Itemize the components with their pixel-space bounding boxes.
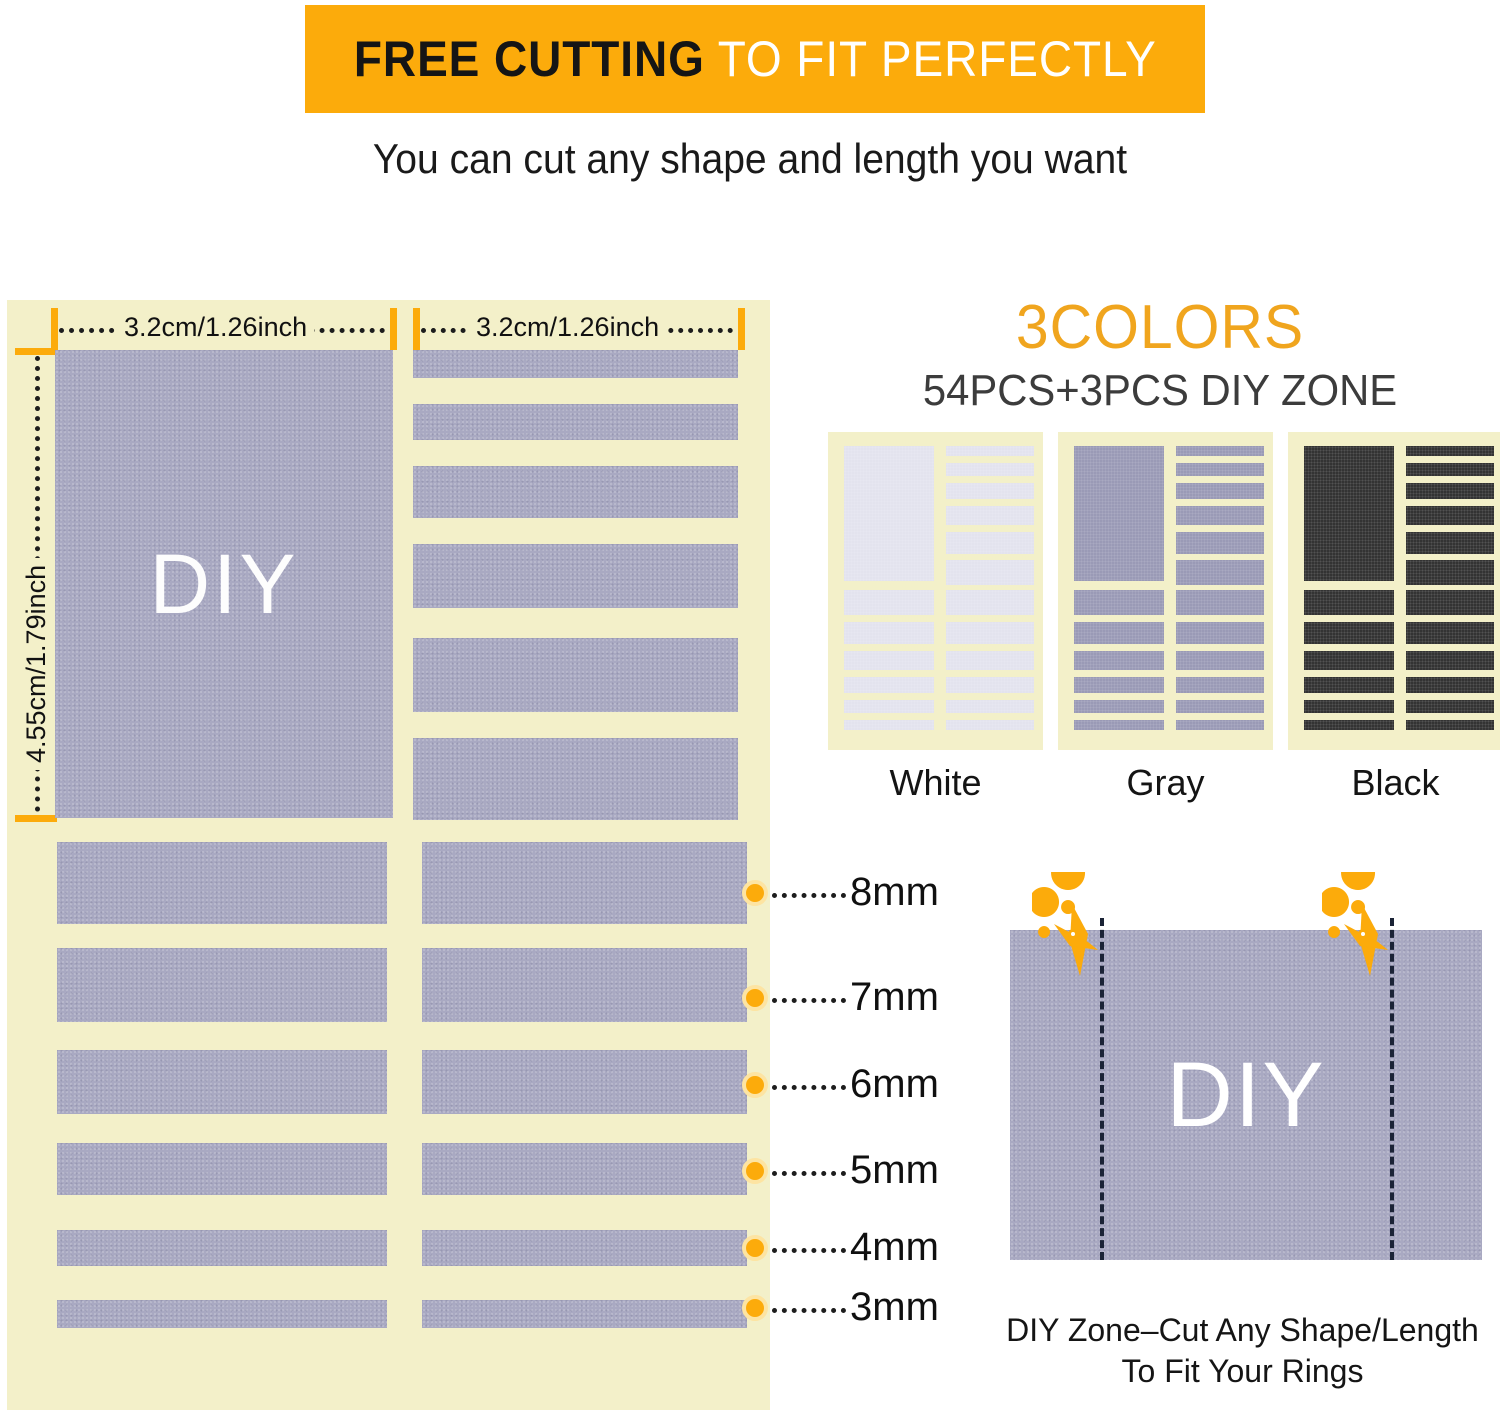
callout-label-8mm: 8mm (850, 870, 939, 915)
swatch-gray-strip-r6 (1176, 560, 1264, 585)
swatch-white-row3-l (844, 720, 934, 730)
swatch-black-row4-r (1406, 700, 1494, 713)
pad-strip-row7-right (422, 948, 747, 1022)
swatch-gray-row3-r (1176, 720, 1264, 730)
diy-zone-caption-line1: DIY Zone–Cut Any Shape/Length (985, 1310, 1500, 1351)
pad-strip-right-4mm (413, 404, 738, 440)
swatch-white-row5-r (946, 677, 1034, 693)
header-title-bold: FREE CUTTING (354, 31, 705, 87)
swatch-gray-row4-l (1074, 700, 1164, 713)
pad-strip-right-5mm (413, 466, 738, 518)
pad-strip-row5-right (422, 1143, 747, 1195)
callout-label-7mm: 7mm (850, 975, 939, 1020)
swatch-white-row4-r (946, 700, 1034, 713)
pad-strip-row8-left (57, 842, 387, 924)
swatch-black-row8-l (1304, 590, 1394, 615)
swatch-gray-strip-r4 (1176, 506, 1264, 525)
swatch-gray-row8-r (1176, 590, 1264, 615)
swatch-black-row3-r (1406, 720, 1494, 730)
pad-strip-row7-left (57, 948, 387, 1022)
swatch-white-diy-pad (844, 446, 934, 581)
pad-strip-row8-right (422, 842, 747, 924)
swatch-gray-row3-l (1074, 720, 1164, 730)
dim-tick-height-top (15, 348, 57, 355)
callout-dot-6mm (742, 1072, 768, 1098)
swatch-white-row5-l (844, 677, 934, 693)
swatch-white-row7-l (844, 622, 934, 644)
dim-tick-height-bottom (15, 815, 57, 822)
swatch-gray-diy-pad (1074, 446, 1164, 581)
callout-line-3mm (772, 1308, 846, 1313)
diy-zone-caption-line2: To Fit Your Rings (985, 1351, 1500, 1392)
swatch-black-row5-r (1406, 677, 1494, 693)
swatch-black-row7-l (1304, 622, 1394, 644)
pad-strip-row6-left (57, 1050, 387, 1114)
pad-strip-right-3mm (413, 350, 738, 378)
swatch-gray-strip-r5 (1176, 532, 1264, 554)
dim-tick-right-start (413, 308, 420, 350)
swatch-black-row5-l (1304, 677, 1394, 693)
callout-dot-8mm (742, 880, 768, 906)
callout-dot-4mm (742, 1235, 768, 1261)
swatch-black-strip-r5 (1406, 532, 1494, 554)
swatch-white-row8-r (946, 590, 1034, 615)
swatch-white-strip-r6 (946, 560, 1034, 585)
swatch-black-diy-pad (1304, 446, 1394, 581)
swatch-black-strip-r3 (1406, 483, 1494, 499)
callout-dot-7mm (742, 985, 768, 1011)
dim-label-height: 4.55cm/1.79inch (21, 558, 52, 770)
diy-pad-large: DIY (55, 350, 393, 818)
pad-strip-right-7mm (413, 638, 738, 712)
swatch-black-row6-l (1304, 651, 1394, 670)
callout-label-6mm: 6mm (850, 1062, 939, 1107)
header-subtitle: You can cut any shape and length you wan… (53, 135, 1448, 183)
swatch-gray-row7-l (1074, 622, 1164, 644)
dim-tick-left-start (51, 308, 58, 350)
colors-title: 3COLORS (837, 292, 1483, 363)
callout-dot-3mm (742, 1295, 768, 1321)
swatch-card-black[interactable] (1288, 432, 1500, 750)
swatch-black-strip-r6 (1406, 560, 1494, 585)
swatch-white-row3-r (946, 720, 1034, 730)
swatch-black-row3-l (1304, 720, 1394, 730)
swatch-label-gray: Gray (1058, 762, 1273, 804)
swatch-black-row8-r (1406, 590, 1494, 615)
swatch-card-white[interactable] (828, 432, 1043, 750)
pad-strip-right-6mm (413, 544, 738, 608)
swatch-white-row8-l (844, 590, 934, 615)
swatch-white-row4-l (844, 700, 934, 713)
swatch-label-black: Black (1288, 762, 1500, 804)
swatch-white-row6-r (946, 651, 1034, 670)
swatch-white-strip-r3 (946, 483, 1034, 499)
header-banner: FREE CUTTING TO FIT PERFECTLY (305, 5, 1205, 113)
callout-label-4mm: 4mm (850, 1225, 939, 1270)
swatch-white-strip-r4 (946, 506, 1034, 525)
callout-line-4mm (772, 1248, 846, 1253)
diy-pad-label: DIY (149, 536, 298, 633)
swatch-gray-row7-r (1176, 622, 1264, 644)
dim-tick-right-end (738, 308, 745, 350)
dim-label-width-right: 3.2cm/1.26inch (469, 312, 666, 343)
swatch-gray-row5-l (1074, 677, 1164, 693)
pad-strip-row4-right (422, 1230, 747, 1266)
swatch-black-strip-r1 (1406, 446, 1494, 456)
colors-subtitle: 54PCS+3PCS DIY ZONE (837, 366, 1483, 416)
swatch-black-strip-r2 (1406, 463, 1494, 476)
dim-label-width-left: 3.2cm/1.26inch (117, 312, 314, 343)
swatch-gray-strip-r1 (1176, 446, 1264, 456)
swatch-white-strip-r1 (946, 446, 1034, 456)
swatch-gray-strip-r2 (1176, 463, 1264, 476)
diy-zone-caption: DIY Zone–Cut Any Shape/Length To Fit You… (985, 1310, 1500, 1392)
swatch-gray-row4-r (1176, 700, 1264, 713)
swatch-gray-row6-r (1176, 651, 1264, 670)
header-title-light: TO FIT PERFECTLY (717, 31, 1156, 87)
swatch-gray-strip-r3 (1176, 483, 1264, 499)
scissors-icon-left (1032, 872, 1142, 997)
pad-strip-row6-right (422, 1050, 747, 1114)
pad-strip-right-8mm (413, 738, 738, 820)
swatch-white-row6-l (844, 651, 934, 670)
pad-strip-row4-left (57, 1230, 387, 1266)
dim-tick-left-end (390, 308, 397, 350)
swatch-black-strip-r4 (1406, 506, 1494, 525)
swatch-gray-row6-l (1074, 651, 1164, 670)
callout-line-6mm (772, 1085, 846, 1090)
swatch-gray-row5-r (1176, 677, 1264, 693)
swatch-white-strip-r5 (946, 532, 1034, 554)
swatch-black-row4-l (1304, 700, 1394, 713)
callout-line-5mm (772, 1171, 846, 1176)
pad-strip-row3-right (422, 1300, 747, 1328)
header-title: FREE CUTTING TO FIT PERFECTLY (354, 30, 1157, 88)
pad-strip-row5-left (57, 1143, 387, 1195)
product-sheet: 3.2cm/1.26inch 3.2cm/1.26inch 4.55cm/1.7… (7, 300, 770, 1410)
swatch-label-white: White (828, 762, 1043, 804)
pad-strip-row3-left (57, 1300, 387, 1328)
swatch-white-row7-r (946, 622, 1034, 644)
callout-line-7mm (772, 998, 846, 1003)
swatch-card-gray[interactable] (1058, 432, 1273, 750)
callout-line-8mm (772, 893, 846, 898)
callout-label-3mm: 3mm (850, 1285, 939, 1330)
swatch-white-strip-r2 (946, 463, 1034, 476)
callout-dot-5mm (742, 1158, 768, 1184)
swatch-gray-row8-l (1074, 590, 1164, 615)
callout-label-5mm: 5mm (850, 1148, 939, 1193)
swatch-black-row6-r (1406, 651, 1494, 670)
swatch-black-row7-r (1406, 622, 1494, 644)
scissors-icon-right (1322, 872, 1432, 997)
